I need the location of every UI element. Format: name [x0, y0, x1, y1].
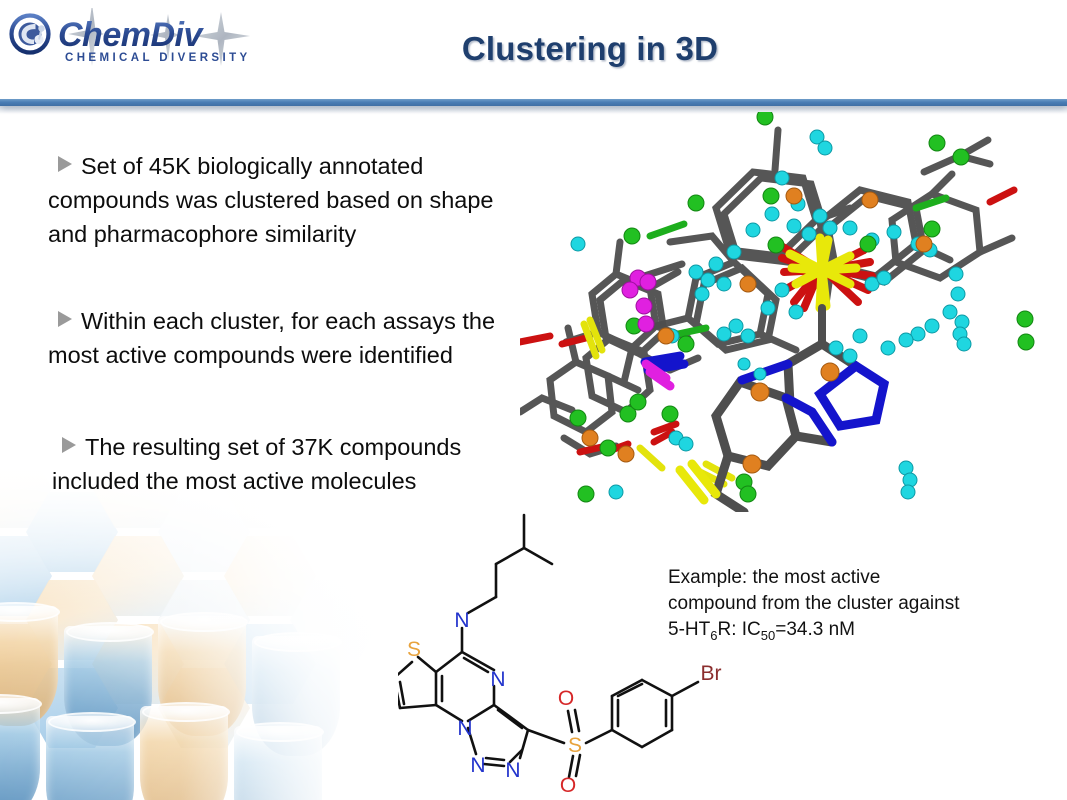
- triangle-bullet-icon: [58, 156, 72, 172]
- atom-label-S-thiophene: S: [407, 638, 421, 661]
- atom-label-O-bottom: O: [560, 774, 576, 797]
- ic50-value: =34.3 nM: [775, 619, 855, 640]
- example-caption: Example: the most active compound from t…: [668, 565, 1018, 645]
- atom-label-N-triazole-1: N: [470, 754, 485, 777]
- logo-tagline: CHEMICAL DIVERSITY: [65, 52, 251, 64]
- atom-label-S-sulfonyl: S: [568, 734, 582, 757]
- ic50-subscript: 50: [761, 628, 775, 643]
- sulfonyl-superposition-burst: [778, 238, 872, 344]
- chemical-structure-diagram: S N N N N N S O O Br: [398, 500, 758, 800]
- atom-label-N-triazole-2: N: [505, 759, 520, 782]
- list-item: Within each cluster, for each assays the…: [48, 305, 518, 373]
- bullet-text: Within each cluster, for each assays the…: [48, 308, 495, 368]
- slide-canvas: ChemDiv CHEMICAL DIVERSITY Clustering in…: [0, 0, 1067, 800]
- atom-label-Br: Br: [701, 662, 722, 685]
- foreground-molecule-sticks: [645, 344, 884, 512]
- page-title: Clustering in 3D: [280, 30, 900, 68]
- bullet-list: Set of 45K biologically annotated compou…: [48, 150, 518, 541]
- triangle-bullet-icon: [58, 311, 72, 327]
- caption-line-3: 5-HT6R: IC50=34.3 nM: [668, 617, 1018, 645]
- chemdiv-logo[interactable]: ChemDiv CHEMICAL DIVERSITY: [8, 8, 254, 72]
- caption-line-1: Example: the most active: [668, 565, 1018, 591]
- slide-header: ChemDiv CHEMICAL DIVERSITY Clustering in…: [0, 0, 1067, 108]
- target-prefix: 5-HT: [668, 619, 710, 640]
- target-suffix: R: IC: [717, 619, 760, 640]
- molecular-cluster-3d-render: [520, 112, 1067, 512]
- logo-wordmark: ChemDiv: [58, 16, 204, 54]
- bullet-text: The resulting set of 37K compounds inclu…: [52, 434, 461, 494]
- atom-label-N-bridgehead: N: [457, 717, 472, 740]
- bullet-text: Set of 45K biologically annotated compou…: [48, 153, 493, 247]
- header-divider: [0, 99, 1067, 106]
- caption-line-2: compound from the cluster against: [668, 591, 1018, 617]
- atom-label-N-pyrimidine: N: [490, 668, 505, 691]
- list-item: Set of 45K biologically annotated compou…: [48, 150, 518, 251]
- list-item: The resulting set of 37K compounds inclu…: [52, 431, 518, 499]
- atom-label-N-amine: N: [454, 609, 469, 632]
- triangle-bullet-icon: [62, 437, 76, 453]
- atom-label-O-top: O: [558, 687, 574, 710]
- bond-lines: [398, 515, 698, 766]
- chemdiv-circle-logo-icon: [12, 16, 49, 53]
